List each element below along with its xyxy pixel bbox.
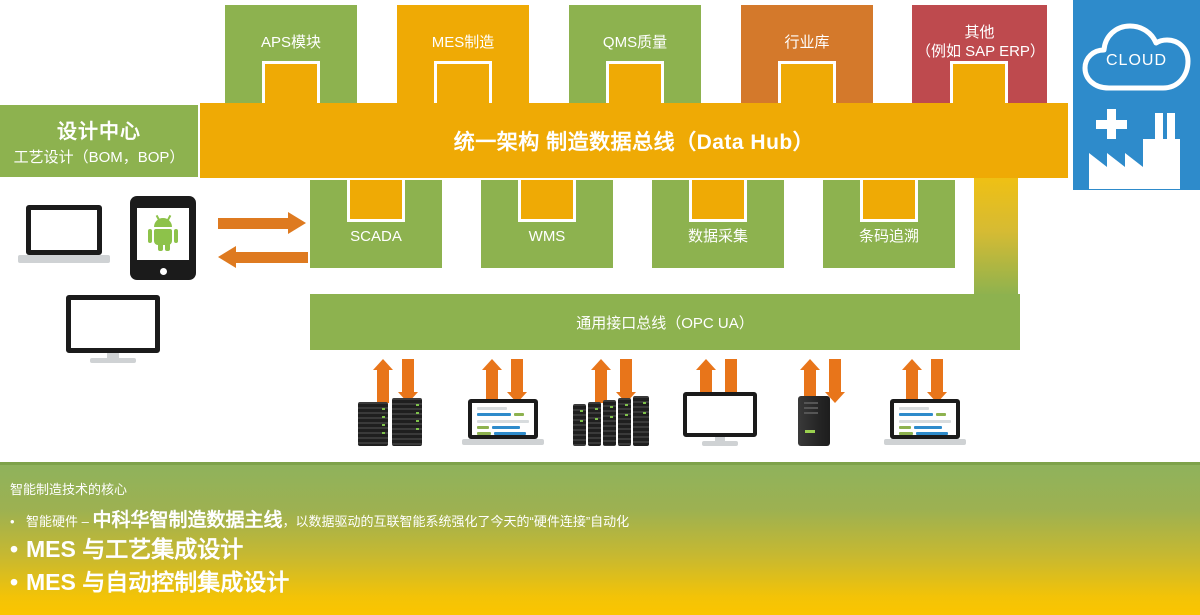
mid-module-data-acquisition[interactable]: 数据采集 [652, 180, 784, 268]
hub-connector-notch [778, 61, 836, 103]
mid-module-label: SCADA [346, 228, 406, 247]
top-module-aps[interactable]: APS模块 [225, 5, 357, 103]
opc-ua-interface-bus[interactable]: 通用接口总线（OPC UA） [310, 294, 1020, 350]
summary-bullet-1-post: ，以数据驱动的互联智能系统强化了今天的“硬件连接”自动化 [282, 514, 629, 529]
laptop-icon [18, 205, 110, 267]
server-rack-row-icon [573, 396, 651, 446]
mid-module-scada[interactable]: SCADA [310, 180, 442, 268]
hub-connector-notch [950, 61, 1008, 103]
bullet-glyph: • [10, 567, 26, 598]
summary-bullet-3: • MES 与自动控制集成设计 [10, 567, 1190, 598]
arrow-right-icon [218, 212, 308, 234]
summary-heading: 智能制造技术的核心 [10, 479, 1190, 498]
arrow-down-icon [507, 359, 527, 404]
arrow-left-icon [218, 246, 308, 268]
mid-module-barcode-trace[interactable]: 条码追溯 [823, 180, 955, 268]
tower-server-icon [798, 396, 830, 446]
mid-module-label: 数据采集 [684, 228, 752, 247]
hub-connector-notch [262, 61, 320, 103]
summary-bullet-1: • 智能硬件 – 中科华智制造数据主线，以数据驱动的互联智能系统强化了今天的“硬… [10, 505, 1190, 532]
arrow-up-icon [482, 359, 502, 404]
desktop-monitor-icon [66, 295, 160, 363]
cloud-label: CLOUD [1073, 52, 1200, 70]
design-center-panel[interactable]: 设计中心 工艺设计（BOM，BOP） [0, 105, 198, 177]
summary-bullet-1-pre: 智能硬件 – [26, 514, 92, 529]
arrow-up-icon [902, 359, 922, 404]
summary-bullet-3-text: MES 与自动控制集成设计 [26, 567, 289, 598]
opc-ua-interface-bus-label: 通用接口总线（OPC UA） [576, 312, 754, 333]
architecture-diagram: APS模块 MES制造 QMS质量 行业库 其他 （例如 SAP ERP） 设计… [0, 0, 1200, 615]
summary-bullet-2-text: MES 与工艺集成设计 [26, 534, 243, 565]
design-center-subtitle: 工艺设计（BOM，BOP） [14, 146, 185, 167]
summary-bullet-1-strong: 中科华智制造数据主线 [92, 510, 282, 531]
hub-connector-notch [689, 180, 747, 222]
laptop-dashboard-icon [884, 399, 966, 445]
factory-icon [1085, 105, 1191, 189]
arrow-down-icon [927, 359, 947, 404]
laptop-dashboard-icon [462, 399, 544, 445]
top-module-qms[interactable]: QMS质量 [569, 5, 701, 103]
top-module-label: 行业库 [780, 34, 833, 53]
mid-module-label: WMS [525, 228, 570, 247]
server-rack-pair-icon [358, 398, 426, 446]
design-center-title: 设计中心 [57, 115, 141, 144]
top-module-industry-library[interactable]: 行业库 [741, 5, 873, 103]
top-module-label: 其他 （例如 SAP ERP） [912, 24, 1047, 62]
top-module-label: MES制造 [428, 34, 499, 53]
mid-module-label: 条码追溯 [855, 228, 923, 247]
top-module-other-sap-erp[interactable]: 其他 （例如 SAP ERP） [912, 5, 1047, 103]
cloud-factory-panel[interactable]: CLOUD [1073, 0, 1200, 190]
bullet-glyph: • [10, 514, 26, 529]
android-tablet-icon [130, 196, 196, 280]
android-robot-icon [148, 218, 178, 250]
desktop-monitor-icon [683, 392, 757, 446]
data-hub-bus[interactable]: 统一架构 制造数据总线（Data Hub） [200, 103, 1068, 178]
hub-connector-notch [347, 180, 405, 222]
hub-connector-notch [518, 180, 576, 222]
bullet-glyph: • [10, 534, 26, 565]
hub-to-opc-connector [972, 178, 1020, 296]
top-module-mes[interactable]: MES制造 [397, 5, 529, 103]
data-hub-bus-label: 统一架构 制造数据总线（Data Hub） [454, 126, 815, 156]
mid-module-wms[interactable]: WMS [481, 180, 613, 268]
hub-connector-notch [606, 61, 664, 103]
top-module-label: APS模块 [257, 34, 325, 53]
hub-connector-notch [434, 61, 492, 103]
summary-bullet-2: • MES 与工艺集成设计 [10, 534, 1190, 565]
hub-connector-notch [860, 180, 918, 222]
summary-panel: 智能制造技术的核心 • 智能硬件 – 中科华智制造数据主线，以数据驱动的互联智能… [0, 462, 1200, 615]
top-module-label: QMS质量 [599, 34, 671, 53]
